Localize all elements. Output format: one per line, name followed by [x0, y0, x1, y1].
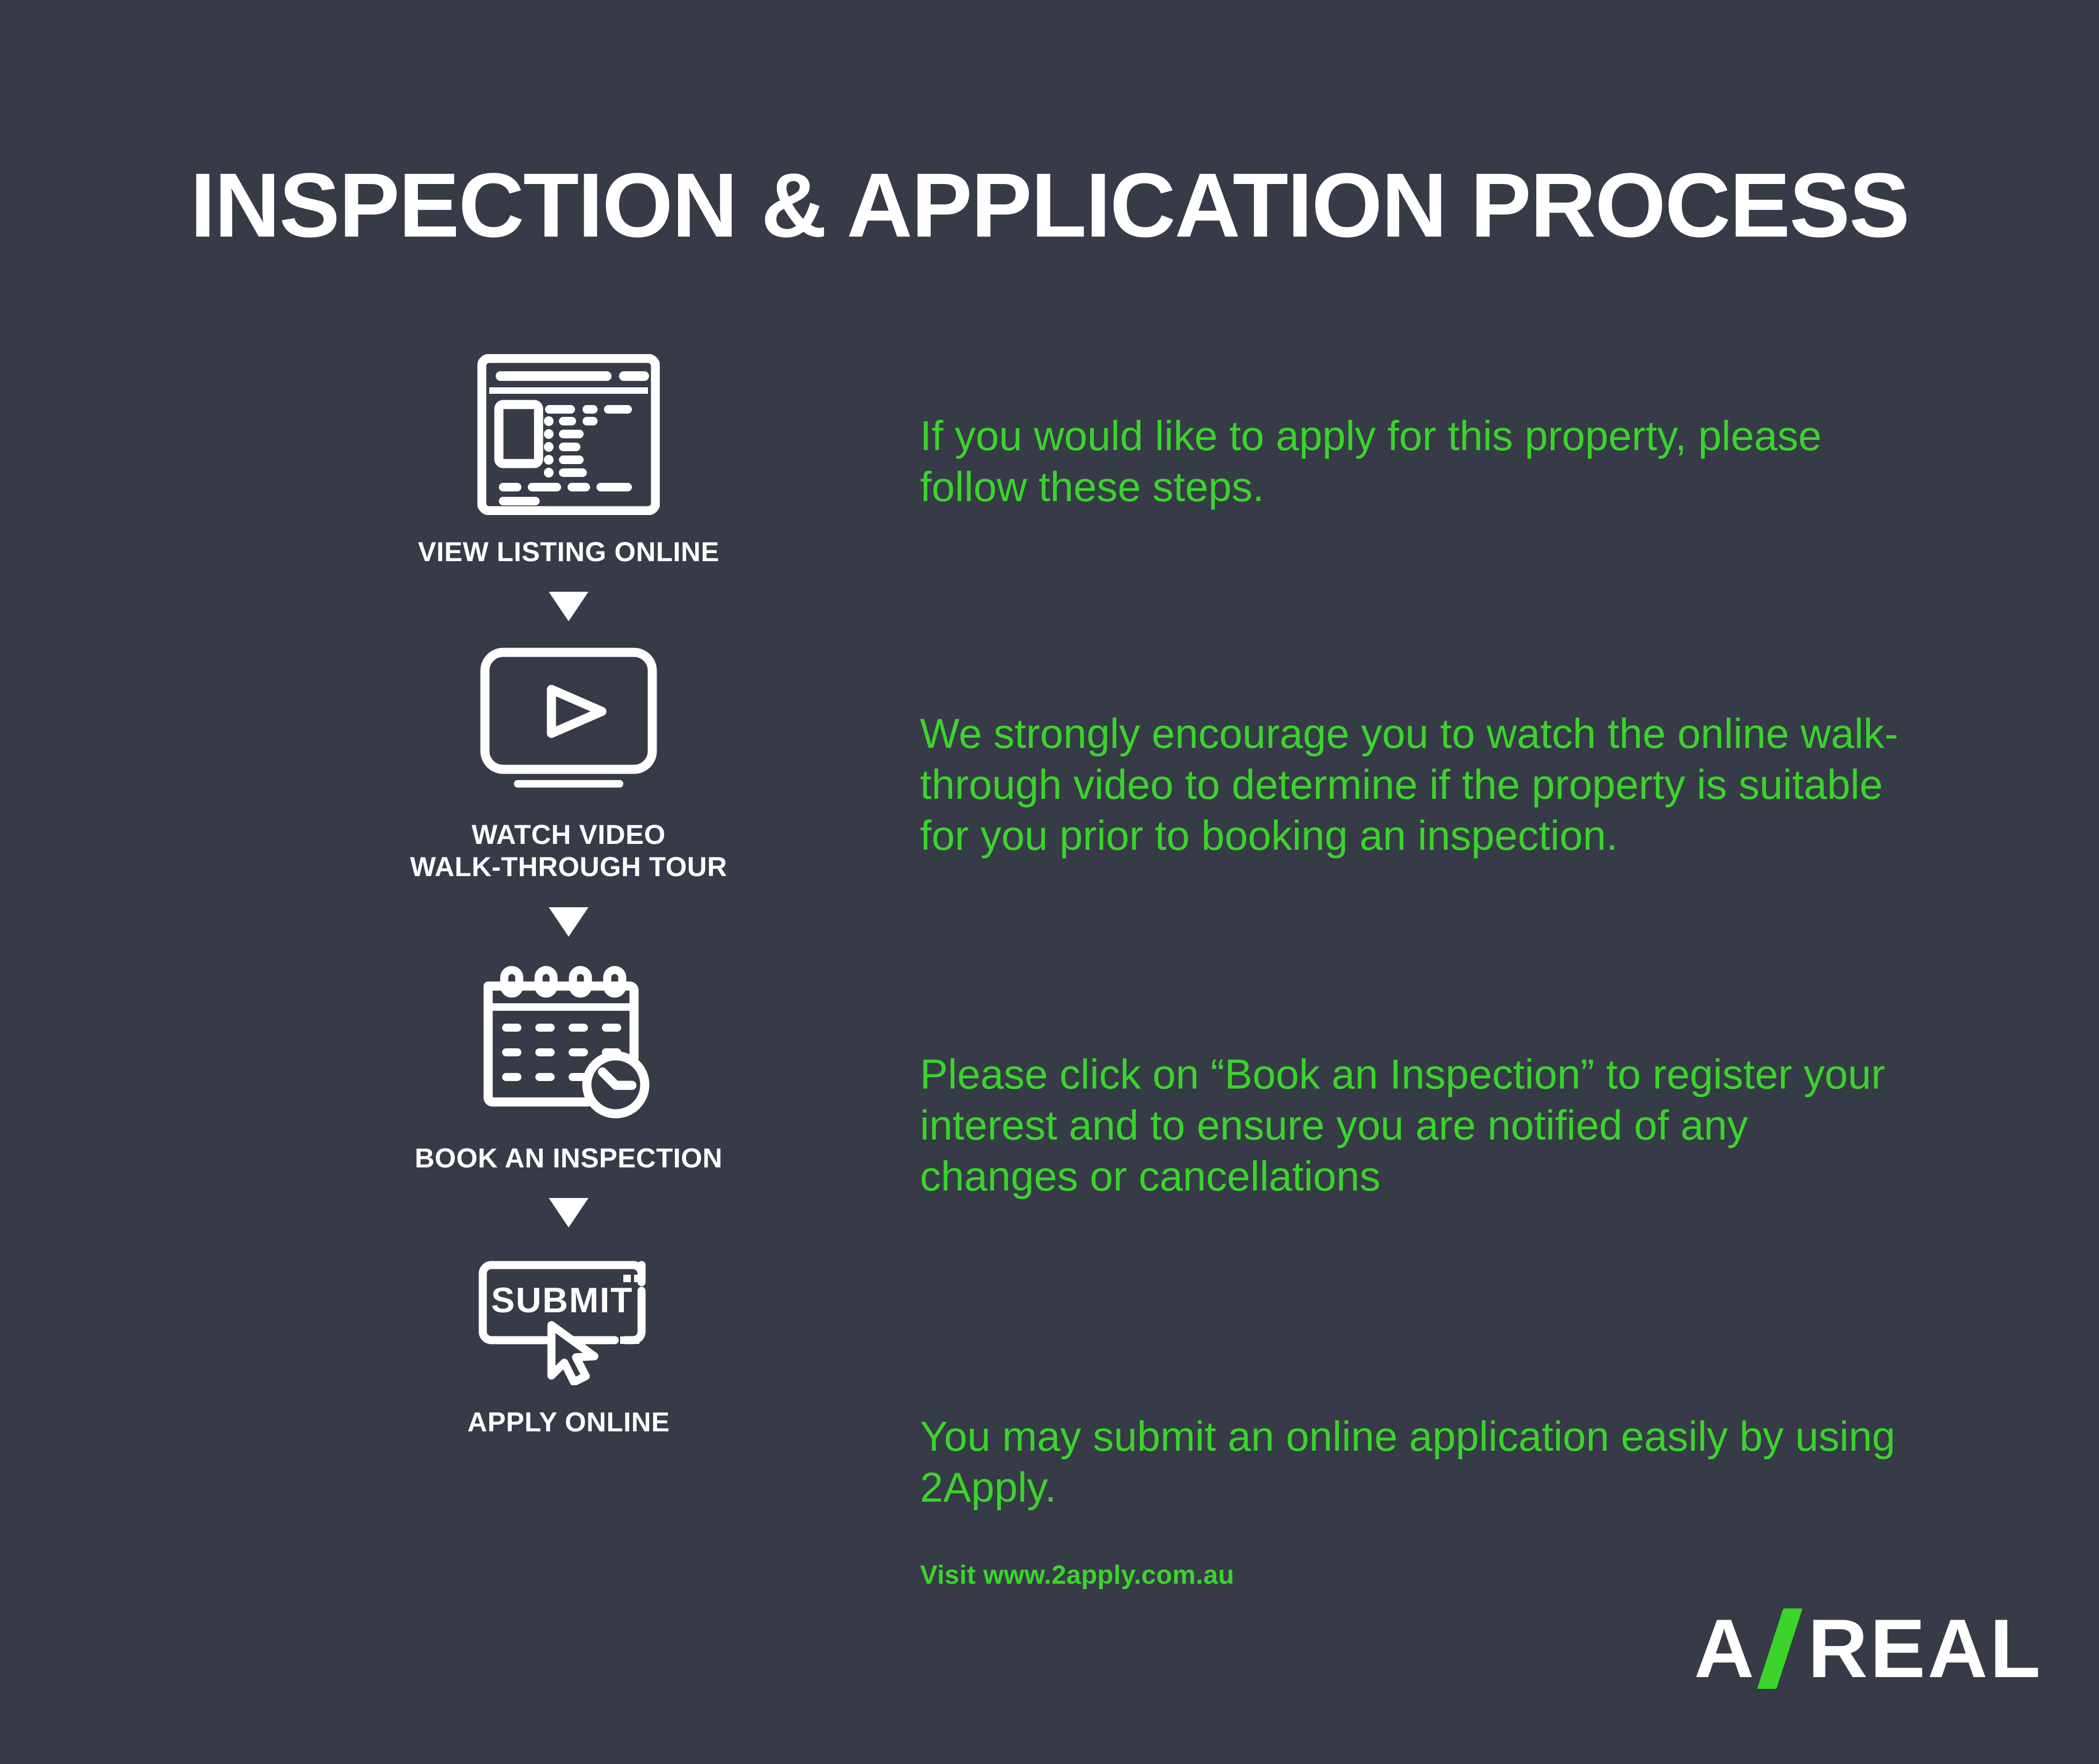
process-flow: VIEW LISTING ONLINE WATCH VIDEO WALK-THR…: [354, 354, 783, 1438]
logo-text-real: REAL: [1808, 1607, 2043, 1690]
copy-paragraph-4: You may submit an online application eas…: [920, 1411, 1918, 1513]
flow-step-label-line1: VIEW LISTING ONLINE: [418, 536, 719, 568]
copy-paragraph-3: Please click on “Book an Inspection” to …: [920, 1049, 1918, 1202]
flow-step-label: VIEW LISTING ONLINE: [418, 536, 719, 568]
flow-step-label-line1: WATCH VIDEO: [410, 819, 727, 851]
submit-button-cursor-icon: SUBMIT: [472, 1251, 665, 1388]
triangle-down-icon: [549, 592, 588, 621]
flow-step-apply-online[interactable]: SUBMIT APPLY ONLINE: [354, 1251, 783, 1438]
copy-paragraph-2: We strongly encourage you to watch the o…: [920, 708, 1918, 861]
flow-step-label: WATCH VIDEO WALK-THROUGH TOUR: [410, 819, 727, 883]
flow-step-watch-video[interactable]: WATCH VIDEO WALK-THROUGH TOUR: [354, 645, 783, 883]
listing-window-icon: [477, 354, 660, 518]
svg-text:SUBMIT: SUBMIT: [491, 1280, 634, 1320]
green-slash-icon: [1757, 1608, 1803, 1689]
flow-step-view-listing[interactable]: VIEW LISTING ONLINE: [354, 354, 783, 568]
triangle-down-icon: [549, 1198, 588, 1228]
logo-text-a: A: [1694, 1607, 1756, 1690]
flow-step-label-line1: APPLY ONLINE: [467, 1406, 669, 1438]
copy-paragraph-1: If you would like to apply for this prop…: [920, 410, 1918, 512]
flow-step-book-inspection[interactable]: BOOK AN INSPECTION: [354, 960, 783, 1174]
areal-logo[interactable]: A REAL: [1694, 1607, 2043, 1690]
flow-step-label: APPLY ONLINE: [467, 1406, 669, 1438]
flow-step-label-line2: WALK-THROUGH TOUR: [410, 851, 727, 883]
video-play-monitor-icon: [477, 645, 660, 800]
triangle-down-icon: [549, 907, 588, 937]
flow-step-label-line1: BOOK AN INSPECTION: [415, 1142, 723, 1174]
visit-2apply-link[interactable]: Visit www.2apply.com.au: [920, 1560, 1234, 1590]
flow-step-label: BOOK AN INSPECTION: [415, 1142, 723, 1174]
page-title: INSPECTION & APPLICATION PROCESS: [0, 153, 2099, 258]
calendar-clock-icon: [477, 960, 660, 1124]
